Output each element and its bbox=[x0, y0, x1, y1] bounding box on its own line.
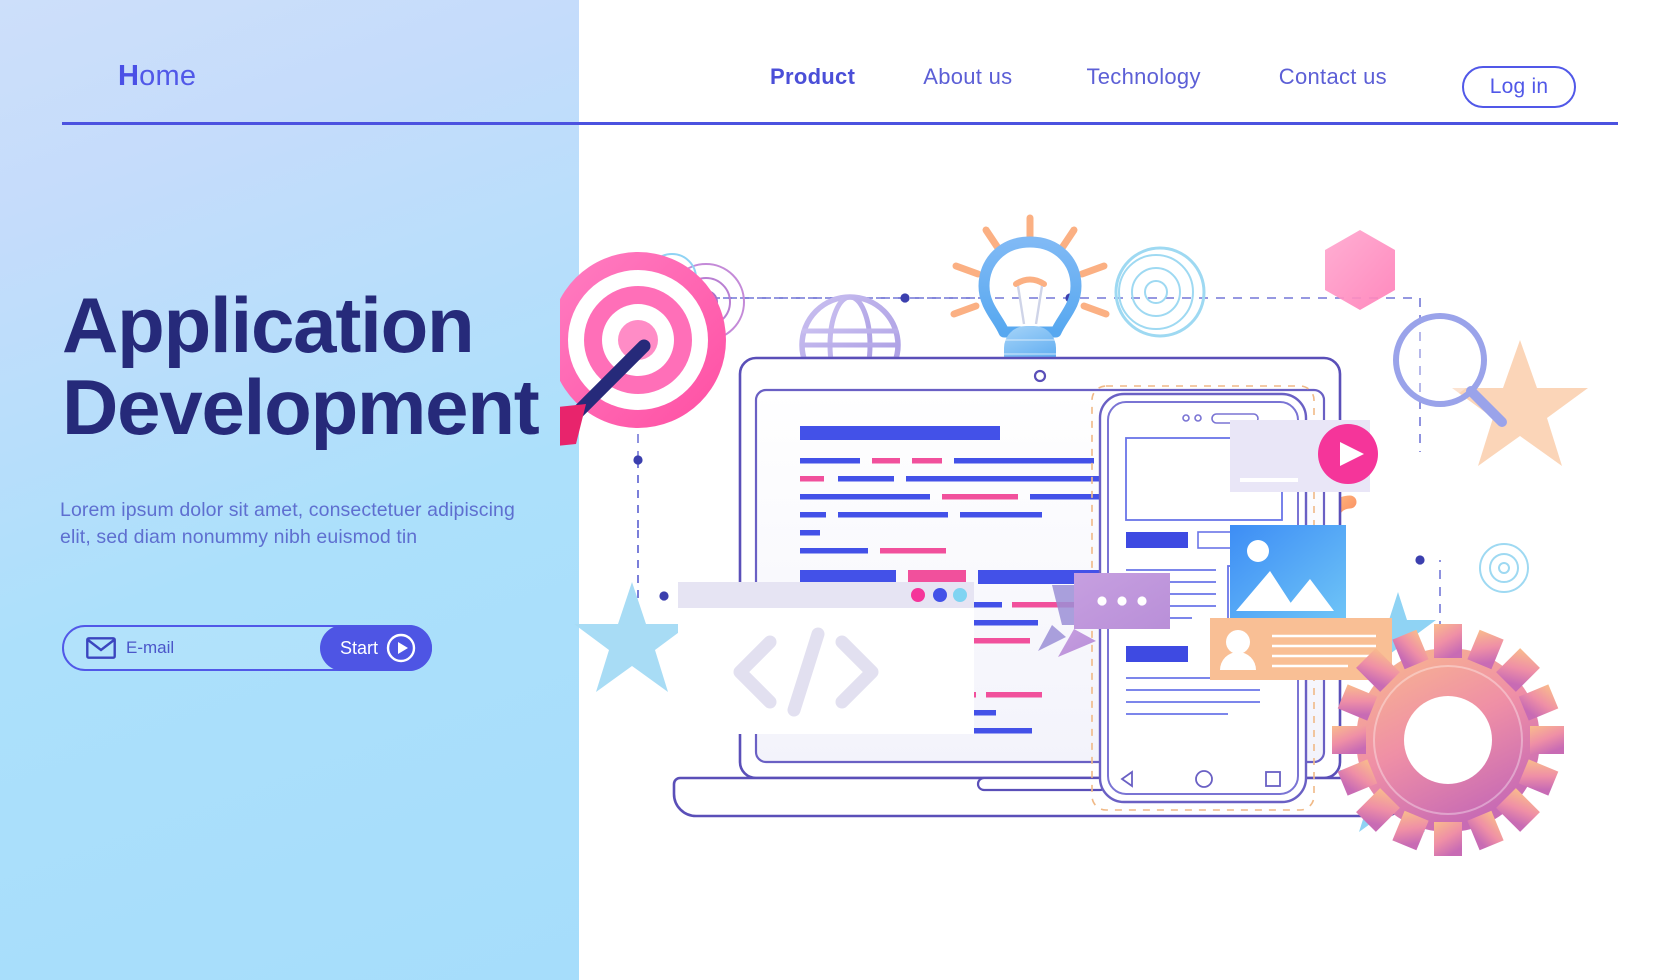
page-title: Application Development bbox=[62, 288, 582, 444]
envelope-icon bbox=[86, 637, 116, 659]
hero-subcopy: Lorem ipsum dolor sit amet, consectetuer… bbox=[60, 497, 530, 550]
brand-initial: H bbox=[118, 60, 139, 92]
nav-item-contact-us[interactable]: Contact us bbox=[1279, 64, 1387, 90]
hero-left-panel bbox=[0, 0, 579, 980]
nav-links: Product About us Technology Contact us bbox=[770, 64, 1387, 90]
headline-line-2: Development bbox=[62, 370, 582, 444]
nav-item-technology[interactable]: Technology bbox=[1086, 64, 1200, 90]
start-button[interactable]: Start bbox=[320, 625, 432, 671]
nav-underline-divider bbox=[62, 122, 1618, 125]
start-button-label: Start bbox=[340, 638, 378, 659]
landing-page: Home Product About us Technology Contact… bbox=[0, 0, 1680, 980]
nav-item-product[interactable]: Product bbox=[770, 64, 855, 90]
brand-rest: ome bbox=[139, 60, 196, 92]
top-navigation-bar: Home Product About us Technology Contact… bbox=[0, 0, 1680, 128]
login-button[interactable]: Log in bbox=[1462, 66, 1576, 108]
play-circle-icon bbox=[386, 633, 416, 663]
headline-line-1: Application bbox=[62, 281, 473, 369]
hero-illustration bbox=[560, 130, 1680, 930]
nav-item-about-us[interactable]: About us bbox=[923, 64, 1012, 90]
email-signup-form: Start bbox=[62, 625, 432, 671]
brand-logo-home[interactable]: Home bbox=[118, 60, 196, 93]
